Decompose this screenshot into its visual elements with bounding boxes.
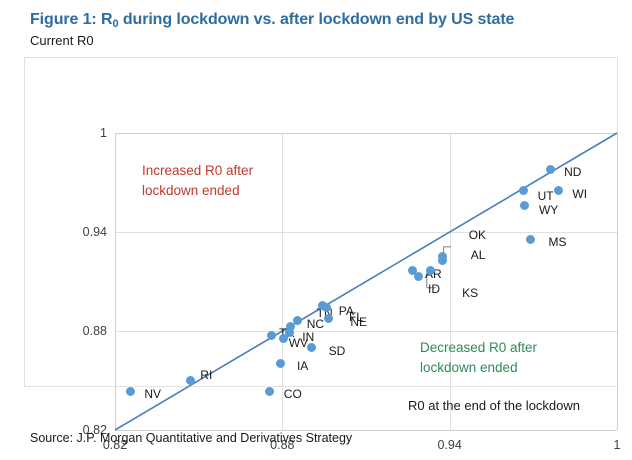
data-point[interactable]: [126, 387, 135, 396]
figure-container: Figure 1: R0 during lockdown vs. after l…: [0, 0, 632, 460]
data-point-label: ID: [428, 282, 440, 296]
figure-title: Figure 1: R0 during lockdown vs. after l…: [30, 11, 514, 29]
annotation-decreased-line2: lockdown ended: [420, 358, 537, 378]
data-point[interactable]: [426, 266, 435, 275]
gridline-vertical: [617, 133, 618, 430]
annotation-increased-line1: Increased R0 after: [142, 161, 253, 181]
data-point[interactable]: [438, 256, 447, 265]
data-point[interactable]: [546, 165, 555, 174]
y-tick-label: 0.94: [47, 225, 107, 239]
data-point-label: KS: [462, 286, 478, 300]
figure-title-rest: during lockdown vs. after lockdown end b…: [119, 11, 515, 28]
data-point-label: ND: [564, 165, 581, 179]
data-point-label: OK: [469, 228, 486, 242]
y-tick-label: 1: [47, 126, 107, 140]
data-point-label: MS: [549, 235, 567, 249]
annotation-increased-line2: lockdown ended: [142, 181, 253, 201]
y-axis-title: Current R0: [30, 33, 94, 48]
plot-frame: 0.820.880.9410.820.880.941NVRICOIATXWVIN…: [24, 57, 618, 387]
figure-title-prefix: Figure 1: R: [30, 11, 112, 28]
plot-area: 0.820.880.9410.820.880.941NVRICOIATXWVIN…: [115, 133, 617, 430]
data-point-label: WY: [539, 203, 558, 217]
data-point-label: IA: [297, 359, 308, 373]
x-tick-label: 0.94: [437, 438, 461, 452]
data-point-label: AL: [471, 248, 486, 262]
data-point[interactable]: [265, 387, 274, 396]
annotation-decreased: Decreased R0 afterlockdown ended: [420, 338, 537, 377]
data-point[interactable]: [186, 376, 195, 385]
data-point[interactable]: [322, 303, 331, 312]
data-point[interactable]: [324, 314, 333, 323]
data-point-label: CO: [284, 387, 302, 401]
data-point-label: WI: [572, 187, 587, 201]
y-tick-label: 0.88: [47, 324, 107, 338]
figure-title-subscript: 0: [112, 18, 118, 30]
data-point-label: SD: [329, 344, 346, 358]
annotation-increased: Increased R0 afterlockdown ended: [142, 161, 253, 200]
data-point-label: IN: [302, 330, 314, 344]
data-point-label: NV: [144, 387, 161, 401]
annotation-decreased-line1: Decreased R0 after: [420, 338, 537, 358]
data-point-label: UT: [538, 189, 554, 203]
data-point-label: RI: [200, 368, 212, 382]
x-tick-label: 1: [614, 438, 621, 452]
source-note: Source: J.P. Morgan Quantitative and Der…: [30, 431, 352, 445]
x-axis-title: R0 at the end of the lockdown: [408, 398, 580, 413]
data-point-label: NE: [350, 315, 367, 329]
data-point[interactable]: [293, 316, 302, 325]
data-point[interactable]: [526, 235, 535, 244]
